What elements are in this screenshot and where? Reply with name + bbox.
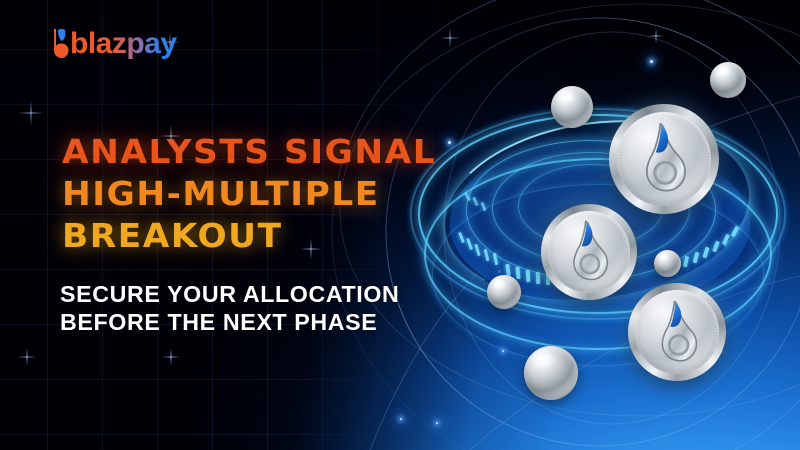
disc-tick [526,270,531,282]
disc-tick [536,272,540,284]
logo-text-secondary: zpay [112,29,177,59]
headline: ANALYSTS SIGNAL HIGH-MULTIPLE BREAKOUT [62,131,436,257]
subheadline-line-1: SECURE YOUR ALLOCATION [60,280,399,308]
blazpay-logo[interactable]: blazpay [52,28,177,59]
chrome-sphere [710,62,746,98]
blazpay-token-coin [628,283,726,381]
blaz-flame-droplet-icon [52,28,69,59]
chrome-sphere [654,250,681,277]
headline-line-1: ANALYSTS SIGNAL [62,131,436,173]
blazpay-token-coin [541,204,637,300]
subheadline-line-2: BEFORE THE NEXT PHASE [60,308,399,336]
blaz-flame-droplet-icon [642,297,713,368]
chrome-sphere [551,86,593,128]
chrome-sphere [524,346,578,400]
chrome-sphere [487,275,521,309]
blazpay-promo-banner: blazpay ANALYSTS SIGNAL HIGH-MULTIPLE BR… [0,0,800,450]
blazpay-token-coin [609,104,719,214]
headline-line-2: HIGH-MULTIPLE [62,173,436,215]
subheadline: SECURE YOUR ALLOCATION BEFORE THE NEXT P… [60,280,399,336]
headline-line-3: BREAKOUT [62,215,436,257]
blaz-flame-droplet-icon [624,119,703,198]
logo-text-primary: bla [70,29,112,59]
blaz-flame-droplet-icon [554,217,623,286]
